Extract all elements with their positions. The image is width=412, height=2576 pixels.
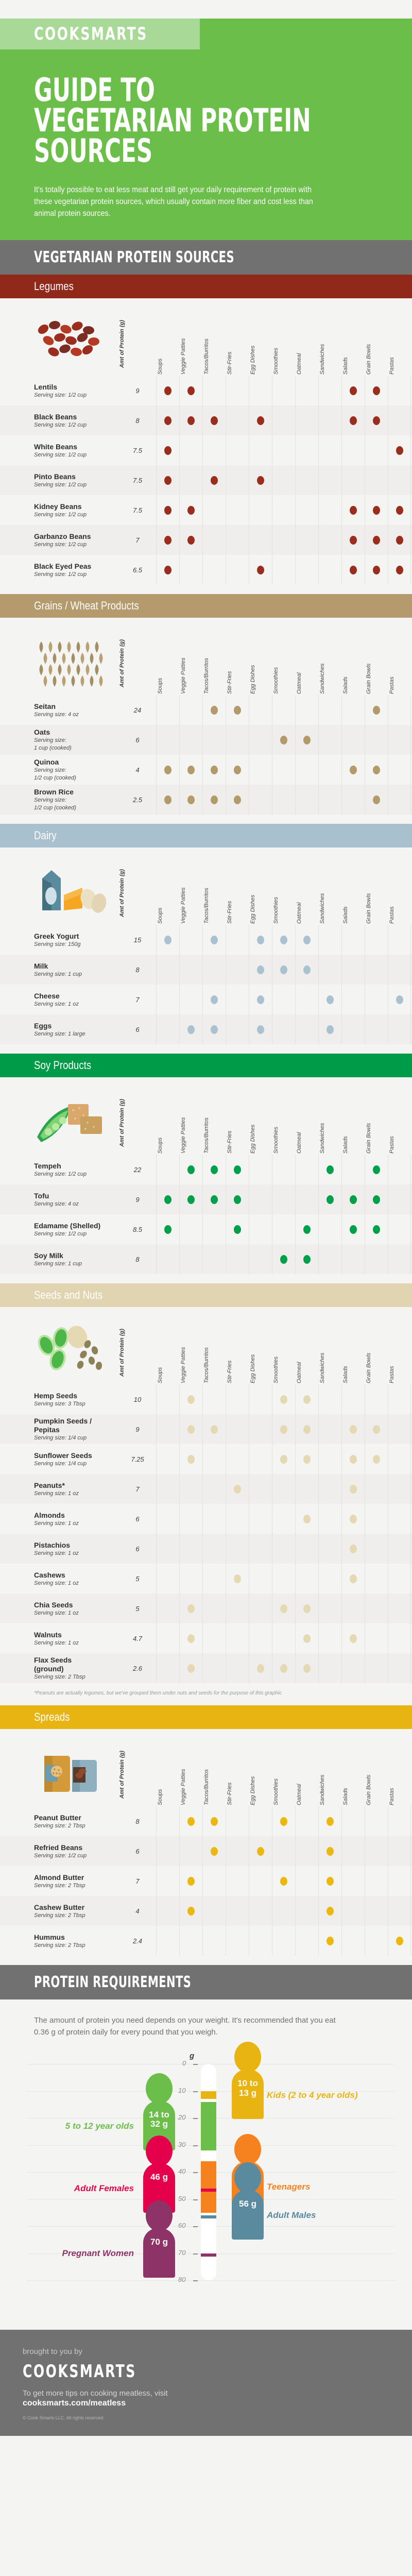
page-title: GUIDE TO VEGETARIAN PROTEIN SOURCES [34, 75, 315, 166]
use-dot-icon [280, 936, 287, 944]
dairy-icon [34, 863, 119, 925]
use-cell-smoothies [272, 1444, 295, 1474]
use-cell-oatmeal [295, 376, 318, 405]
protein-amount: 7.25 [119, 1444, 156, 1474]
column-header-veggie-patties: Veggie Patties [179, 633, 202, 695]
use-cell-oatmeal [295, 1564, 318, 1594]
use-cell-stir-fries [226, 405, 249, 435]
use-cell-oatmeal [295, 1214, 318, 1244]
use-cell-tacos-burritos [202, 1155, 226, 1184]
use-cell-salads [341, 1564, 365, 1594]
column-header-label: Salads [342, 1137, 349, 1154]
use-dot-icon [187, 766, 195, 774]
use-dot-icon [373, 1225, 380, 1234]
use-cell-grain-bowls [365, 1184, 388, 1214]
use-dot-icon [373, 1195, 380, 1204]
use-cell-stir-fries [226, 755, 249, 785]
use-dot-icon [350, 766, 357, 774]
use-cell-oatmeal [295, 1594, 318, 1623]
figure-value-label: 70 g [143, 2238, 175, 2247]
protein-amount: 7.5 [119, 465, 156, 495]
use-cell-tacos-burritos [202, 1414, 226, 1444]
use-cell-soups [156, 465, 179, 495]
column-header-label: Egg Dishes [250, 1354, 256, 1383]
use-cell-veggie-patties [179, 376, 202, 405]
table-row: QuinoaServing size:1/2 cup (cooked)4 [0, 755, 412, 785]
use-cell-stir-fries [226, 985, 249, 1014]
use-cell-pastas [388, 1926, 411, 1956]
use-dot-icon [187, 1604, 195, 1613]
column-header-soups: Soups [156, 863, 179, 925]
use-cell-pastas [388, 555, 411, 585]
column-header-amount: Amt of Protein (g) [119, 1328, 156, 1384]
use-dot-icon [211, 936, 218, 944]
use-dot-icon [303, 1225, 311, 1234]
use-cell-sandwiches [318, 1474, 341, 1504]
use-cell-stir-fries [226, 1155, 249, 1184]
column-header-label: Grain Bowls [366, 1775, 372, 1805]
use-dot-icon [350, 1425, 357, 1434]
chart-y-tickmark [193, 2145, 198, 2146]
table-row: Brown RiceServing size:1/2 cup (cooked)2… [0, 785, 412, 815]
category-title: Spreads [34, 1710, 70, 1724]
use-cell-smoothies [272, 1534, 295, 1564]
serving-size: Serving size: 1 oz [34, 1639, 116, 1647]
use-dot-icon [211, 416, 218, 425]
serving-size: Serving size: 2 Tbsp [34, 1912, 116, 1919]
food-name: Flax Seeds(ground) [34, 1656, 116, 1672]
use-cell-sandwiches [318, 1444, 341, 1474]
use-cell-soups [156, 1474, 179, 1504]
use-cell-veggie-patties [179, 525, 202, 555]
use-dot-icon [327, 1025, 334, 1034]
table-header: Amt of Protein (g)SoupsVeggie PattiesTac… [0, 298, 412, 376]
use-cell-pastas [388, 1474, 411, 1504]
use-cell-tacos-burritos [202, 1214, 226, 1244]
column-header-smoothies: Smoothies [272, 633, 295, 695]
use-cell-sandwiches [318, 1623, 341, 1653]
column-header-label: Stir-Fries [227, 1131, 233, 1154]
footer-url[interactable]: cooksmarts.com/meatless [23, 2399, 412, 2408]
column-header-sandwiches: Sandwiches [318, 1744, 341, 1806]
use-dot-icon [234, 795, 241, 804]
column-header-pastas: Pastas [388, 863, 411, 925]
use-cell-grain-bowls [365, 525, 388, 555]
use-cell-veggie-patties [179, 1866, 202, 1896]
use-dot-icon [234, 706, 241, 715]
use-cell-stir-fries [226, 525, 249, 555]
use-cell-pastas [388, 695, 411, 725]
protein-amount: 6.5 [119, 555, 156, 585]
column-header-pastas: Pastas [388, 1093, 411, 1155]
use-cell-stir-fries [226, 925, 249, 955]
use-cell-pastas [388, 1155, 411, 1184]
use-cell-oatmeal [295, 465, 318, 495]
use-cell-veggie-patties [179, 1623, 202, 1653]
use-cell-soups [156, 555, 179, 585]
table-row: OatsServing size:1 cup (cooked)6 [0, 725, 412, 755]
use-dot-icon [396, 536, 403, 545]
figure-head-icon [234, 2042, 261, 2073]
protein-amount: 2.6 [119, 1653, 156, 1683]
use-cell-egg-dishes [249, 435, 272, 465]
column-header-label: Veggie Patties [180, 1347, 186, 1384]
use-dot-icon [303, 1634, 311, 1643]
use-cell-grain-bowls [365, 1866, 388, 1896]
use-cell-grain-bowls [365, 1214, 388, 1244]
column-header-tacos-burritos: Tacos/Burritos [202, 1744, 226, 1806]
use-cell-grain-bowls [365, 1623, 388, 1653]
category-band: Spreads [0, 1705, 412, 1729]
use-cell-stir-fries [226, 1414, 249, 1444]
protein-amount: 6 [119, 1504, 156, 1534]
logo-band: COOKSMARTS [0, 19, 200, 49]
chart-y-tick-label: 50 [178, 2195, 185, 2202]
food-name-cell: Almond ButterServing size: 2 Tbsp [34, 1866, 119, 1896]
use-cell-tacos-burritos [202, 1926, 226, 1956]
seeds-nuts-icon [34, 1323, 119, 1384]
use-dot-icon [257, 965, 264, 974]
use-cell-egg-dishes [249, 785, 272, 815]
table-row: Cashew ButterServing size: 2 Tbsp4 [0, 1896, 412, 1926]
food-name-cell: WalnutsServing size: 1 oz [34, 1623, 119, 1653]
column-header-smoothies: Smoothies [272, 1323, 295, 1384]
use-cell-veggie-patties [179, 1474, 202, 1504]
use-dot-icon [164, 476, 171, 485]
use-cell-pastas [388, 1014, 411, 1044]
use-cell-stir-fries [226, 695, 249, 725]
column-header-label: Salads [342, 1366, 349, 1384]
use-cell-soups [156, 1444, 179, 1474]
use-cell-veggie-patties [179, 495, 202, 525]
use-cell-soups [156, 495, 179, 525]
use-cell-smoothies [272, 1014, 295, 1044]
use-dot-icon [211, 1425, 218, 1434]
use-cell-pastas [388, 435, 411, 465]
chart-y-tickmark [193, 2172, 198, 2173]
use-cell-oatmeal [295, 1414, 318, 1444]
food-name-cell: Garbanzo BeansServing size: 1/2 cup [34, 525, 119, 555]
use-cell-grain-bowls [365, 555, 388, 585]
use-cell-grain-bowls [365, 376, 388, 405]
use-cell-salads [341, 1014, 365, 1044]
use-cell-egg-dishes [249, 1896, 272, 1926]
category-title: Soy Products [34, 1059, 91, 1072]
food-name: Almonds [34, 1511, 116, 1519]
column-header-egg-dishes: Egg Dishes [249, 314, 272, 376]
use-cell-oatmeal [295, 755, 318, 785]
food-name: Tofu [34, 1192, 116, 1200]
protein-amount: 4 [119, 1896, 156, 1926]
serving-size: Serving size: 1/2 cup [34, 392, 116, 399]
category-grains-wheat-products: Grains / Wheat ProductsAmt of Protein (g… [0, 594, 412, 824]
use-cell-salads [341, 1414, 365, 1444]
use-dot-icon [280, 965, 287, 974]
column-header-label: Tacos/Burritos [203, 658, 210, 694]
use-cell-pastas [388, 1384, 411, 1414]
protein-requirements-chart: 01020304050607080g10 to13 gKids (2 to 4 … [0, 2052, 412, 2330]
column-header-salads: Salads [341, 1744, 365, 1806]
use-cell-salads [341, 1926, 365, 1956]
category-seeds-and-nuts: Seeds and NutsAmt of Protein (g)SoupsVeg… [0, 1283, 412, 1705]
use-dot-icon [187, 1165, 195, 1174]
chart-range-segment [201, 2102, 216, 2151]
column-header-label: Pastas [389, 677, 395, 694]
use-cell-veggie-patties [179, 1926, 202, 1956]
column-header-amount: Amt of Protein (g) [119, 1750, 156, 1806]
use-dot-icon [187, 1817, 195, 1826]
food-name-cell: Peanut ButterServing size: 2 Tbsp [34, 1806, 119, 1836]
use-cell-oatmeal [295, 1444, 318, 1474]
use-cell-stir-fries [226, 1534, 249, 1564]
serving-size: Serving size: 150g [34, 941, 116, 948]
use-cell-grain-bowls [365, 1564, 388, 1594]
column-header-label: Smoothies [273, 1357, 279, 1383]
column-header-salads: Salads [341, 1323, 365, 1384]
use-cell-oatmeal [295, 1806, 318, 1836]
use-cell-stir-fries [226, 1653, 249, 1683]
use-cell-soups [156, 1504, 179, 1534]
chart-y-tick-label: 10 [178, 2087, 185, 2094]
use-cell-veggie-patties [179, 1806, 202, 1836]
use-dot-icon [373, 1425, 380, 1434]
use-cell-tacos-burritos [202, 405, 226, 435]
use-cell-egg-dishes [249, 925, 272, 955]
section-banner-requirements: PROTEIN REQUIREMENTS [0, 1965, 412, 1999]
chart-y-tick-label: 20 [178, 2113, 185, 2121]
serving-size: Serving size:1/2 cup (cooked) [34, 767, 116, 782]
use-dot-icon [164, 566, 171, 574]
use-dot-icon [303, 936, 311, 944]
use-cell-sandwiches [318, 1836, 341, 1866]
use-dot-icon [257, 1847, 264, 1856]
food-name: Edamame (Shelled) [34, 1222, 116, 1230]
serving-size: Serving size: 1 oz [34, 1001, 116, 1008]
use-dot-icon [373, 795, 380, 804]
use-cell-salads [341, 925, 365, 955]
use-dot-icon [234, 1574, 241, 1583]
use-cell-pastas [388, 376, 411, 405]
use-cell-pastas [388, 1504, 411, 1534]
table-row: TempehServing size: 1/2 cup22 [0, 1155, 412, 1184]
use-cell-smoothies [272, 465, 295, 495]
column-header-amount: Amt of Protein (g) [119, 1098, 156, 1155]
use-cell-smoothies [272, 985, 295, 1014]
use-cell-stir-fries [226, 725, 249, 755]
use-cell-tacos-burritos [202, 376, 226, 405]
use-cell-salads [341, 1444, 365, 1474]
food-name: Greek Yogurt [34, 932, 116, 940]
serving-size: Serving size: 1/2 cup [34, 1852, 116, 1859]
serving-size: Serving size: 1 cup [34, 1260, 116, 1267]
column-header-label: Tacos/Burritos [203, 1347, 210, 1383]
table-header: Amt of Protein (g)SoupsVeggie PattiesTac… [0, 1077, 412, 1155]
protein-amount: 4.7 [119, 1623, 156, 1653]
use-cell-tacos-burritos [202, 1504, 226, 1534]
use-cell-pastas [388, 1534, 411, 1564]
use-cell-sandwiches [318, 495, 341, 525]
use-dot-icon [257, 566, 264, 574]
column-header-label: Oatmeal [296, 903, 302, 924]
serving-size: Serving size: 3 Tbsp [34, 1400, 116, 1408]
use-cell-smoothies [272, 555, 295, 585]
use-cell-soups [156, 1214, 179, 1244]
use-dot-icon [187, 506, 195, 515]
chart-gridline [27, 2280, 394, 2281]
food-name-cell: OatsServing size:1 cup (cooked) [34, 725, 119, 755]
infographic-page: COOKSMARTS GUIDE TO VEGETARIAN PROTEIN S… [0, 0, 412, 2436]
use-cell-pastas [388, 1866, 411, 1896]
use-cell-tacos-burritos [202, 1866, 226, 1896]
serving-size: Serving size: 2 Tbsp [34, 1942, 116, 1949]
use-cell-egg-dishes [249, 1474, 272, 1504]
use-cell-salads [341, 985, 365, 1014]
use-dot-icon [234, 1195, 241, 1204]
chart-y-tickmark [193, 2091, 198, 2092]
use-cell-smoothies [272, 1414, 295, 1444]
table-header: Amt of Protein (g)SoupsVeggie PattiesTac… [0, 618, 412, 695]
use-dot-icon [211, 1025, 218, 1034]
use-cell-smoothies [272, 435, 295, 465]
column-header-label: Soups [157, 678, 163, 694]
use-cell-oatmeal [295, 985, 318, 1014]
use-dot-icon [350, 1545, 357, 1553]
use-cell-smoothies [272, 1623, 295, 1653]
use-dot-icon [303, 1255, 311, 1264]
serving-size: Serving size: 1 oz [34, 1580, 116, 1587]
chart-range-segment [201, 2091, 216, 2099]
use-cell-stir-fries [226, 1244, 249, 1274]
use-cell-sandwiches [318, 925, 341, 955]
use-cell-salads [341, 1594, 365, 1623]
use-cell-grain-bowls [365, 495, 388, 525]
food-name: Seitan [34, 702, 116, 710]
figure-body-icon: 70 g [143, 2228, 175, 2278]
use-cell-tacos-burritos [202, 955, 226, 985]
use-cell-soups [156, 785, 179, 815]
food-name: Brown Rice [34, 788, 116, 796]
food-name: Black Eyed Peas [34, 562, 116, 570]
column-header-egg-dishes: Egg Dishes [249, 633, 272, 695]
food-name-cell: Edamame (Shelled)Serving size: 1/2 cup [34, 1214, 119, 1244]
use-dot-icon [164, 386, 171, 395]
figure-value-label: 56 g [232, 2199, 264, 2209]
chart-y-tickmark [193, 2064, 198, 2065]
figure-value-label: 14 to32 g [143, 2110, 175, 2129]
column-header-soups: Soups [156, 1744, 179, 1806]
column-header-label: Smoothies [273, 1778, 279, 1805]
use-dot-icon [187, 536, 195, 545]
use-cell-oatmeal [295, 925, 318, 955]
column-header-label: Soups [157, 1789, 163, 1805]
serving-size: Serving size: 1 cup [34, 971, 116, 978]
table-row: Greek YogurtServing size: 150g15 [0, 925, 412, 955]
use-dot-icon [327, 1817, 334, 1826]
use-cell-soups [156, 1623, 179, 1653]
column-header-label: Tacos/Burritos [203, 1117, 210, 1154]
column-header-label: Salads [342, 1788, 349, 1806]
column-header-label: Pastas [389, 1366, 395, 1384]
protein-amount: 6 [119, 1534, 156, 1564]
column-header-label: Veggie Patties [180, 888, 186, 924]
use-cell-soups [156, 1564, 179, 1594]
food-name: Refried Beans [34, 1843, 116, 1852]
column-header-salads: Salads [341, 1093, 365, 1155]
use-cell-soups [156, 1014, 179, 1044]
food-name-cell: TofuServing size: 4 oz [34, 1184, 119, 1214]
protein-amount: 7 [119, 985, 156, 1014]
table-row: Kidney BeansServing size: 1/2 cup7.5 [0, 495, 412, 525]
food-name-cell: Pinto BeansServing size: 1/2 cup [34, 465, 119, 495]
footer-copyright: © Cook Smarts LLC. All rights reserved. [23, 2415, 412, 2420]
use-cell-pastas [388, 1214, 411, 1244]
chart-figure-kids-2-to-4-year-olds: 10 to13 g [232, 2042, 264, 2119]
column-header-label: Sandwiches [319, 1353, 325, 1383]
table-row: TofuServing size: 4 oz9 [0, 1184, 412, 1214]
use-dot-icon [164, 766, 171, 774]
figure-head-icon [146, 2136, 173, 2166]
table-row: Black Eyed PeasServing size: 1/2 cup6.5 [0, 555, 412, 585]
column-header-egg-dishes: Egg Dishes [249, 1744, 272, 1806]
protein-amount: 6 [119, 725, 156, 755]
protein-amount: 6 [119, 1014, 156, 1044]
table-row: LentilsServing size: 1/2 cup9 [0, 376, 412, 405]
column-header-label: Tacos/Burritos [203, 1769, 210, 1805]
use-cell-veggie-patties [179, 1836, 202, 1866]
category-list: LegumesAmt of Protein (g)SoupsVeggie Pat… [0, 275, 412, 1965]
use-cell-grain-bowls [365, 1836, 388, 1866]
use-cell-veggie-patties [179, 1014, 202, 1044]
use-cell-smoothies [272, 1926, 295, 1956]
protein-amount: 7 [119, 1866, 156, 1896]
food-name-cell: CashewsServing size: 1 oz [34, 1564, 119, 1594]
use-cell-grain-bowls [365, 955, 388, 985]
use-cell-egg-dishes [249, 1866, 272, 1896]
use-dot-icon [303, 1395, 311, 1404]
serving-size: Serving size: 4 oz [34, 1200, 116, 1208]
use-cell-grain-bowls [365, 1594, 388, 1623]
use-cell-veggie-patties [179, 1244, 202, 1274]
use-cell-grain-bowls [365, 1474, 388, 1504]
protein-amount: 4 [119, 755, 156, 785]
food-name-cell: HummusServing size: 2 Tbsp [34, 1926, 119, 1956]
serving-size: Serving size: 4 oz [34, 711, 116, 718]
column-header-sandwiches: Sandwiches [318, 314, 341, 376]
chart-y-tickmark [193, 2199, 198, 2200]
column-header-oatmeal: Oatmeal [295, 314, 318, 376]
column-header-veggie-patties: Veggie Patties [179, 1093, 202, 1155]
column-header-veggie-patties: Veggie Patties [179, 863, 202, 925]
category-soy-products: Soy ProductsAmt of Protein (g)SoupsVeggi… [0, 1054, 412, 1283]
figure-value-label: 10 to13 g [232, 2079, 264, 2098]
use-cell-sandwiches [318, 985, 341, 1014]
food-name-cell: Greek YogurtServing size: 150g [34, 925, 119, 955]
use-cell-tacos-burritos [202, 1244, 226, 1274]
column-header-label: Grain Bowls [366, 344, 372, 375]
use-dot-icon [164, 536, 171, 545]
use-cell-veggie-patties [179, 955, 202, 985]
use-cell-pastas [388, 1184, 411, 1214]
column-header-pastas: Pastas [388, 633, 411, 695]
column-header-label: Egg Dishes [250, 1776, 256, 1805]
food-name-cell: TempehServing size: 1/2 cup [34, 1155, 119, 1184]
use-cell-pastas [388, 1594, 411, 1623]
use-cell-sandwiches [318, 1594, 341, 1623]
chart-figure-label: Pregnant Women [62, 2248, 134, 2259]
use-cell-salads [341, 1504, 365, 1534]
column-header-label: Smoothies [273, 897, 279, 924]
table-row: Black BeansServing size: 1/2 cup8 [0, 405, 412, 435]
